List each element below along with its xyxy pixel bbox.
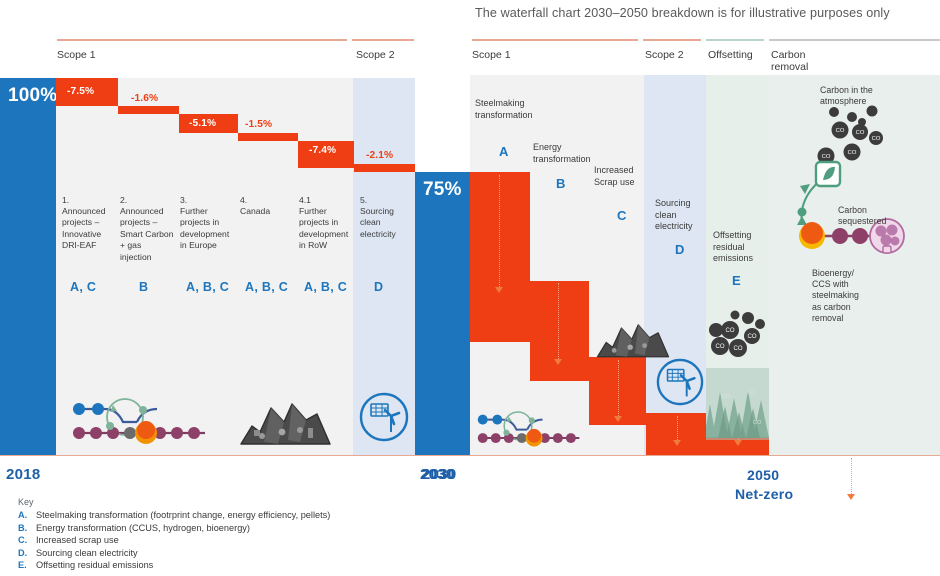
step-value-4: -1.5% bbox=[245, 119, 272, 130]
carbon-sequestered-label: Carbon sequestered bbox=[838, 205, 898, 227]
right-dri-eaf-illustration bbox=[472, 408, 587, 452]
drop-arrow-line-2 bbox=[558, 283, 559, 359]
offsetting-co2-molecules: COCO COCO bbox=[708, 310, 770, 370]
scrap-pile-illustration bbox=[238, 398, 333, 448]
right-scope2-rule bbox=[643, 39, 701, 41]
svg-text:CO: CO bbox=[872, 136, 881, 142]
left-scope2-label: Scope 2 bbox=[356, 50, 416, 62]
label-2018-total: 100% bbox=[8, 85, 57, 107]
step-value-1: -7.5% bbox=[67, 86, 94, 97]
drop-arrow-head-1 bbox=[495, 287, 503, 293]
year-label-2050-netzero: Net-zero bbox=[735, 486, 793, 502]
column-note-6-number: 5. bbox=[360, 195, 410, 206]
right-annotation-code-A: A bbox=[499, 144, 508, 159]
column-code-2: B bbox=[139, 280, 148, 294]
column-code-3: A, B, C bbox=[186, 280, 229, 294]
renewable-energy-icon bbox=[359, 392, 409, 442]
key-item-a: A. Steelmaking transformation (footrprin… bbox=[18, 509, 438, 522]
svg-text:CO: CO bbox=[856, 130, 865, 136]
right-scope1-rule bbox=[472, 39, 638, 41]
left-scope1-label: Scope 1 bbox=[57, 50, 137, 62]
right-offsetting-rule bbox=[706, 39, 764, 41]
column-note-5: Further projects in development in RoW bbox=[299, 206, 355, 252]
column-note-6: Sourcing clean electricity bbox=[360, 206, 410, 240]
svg-text:CO: CO bbox=[748, 334, 757, 340]
right-step-bar-steelmaking bbox=[470, 172, 530, 342]
key-title: Key bbox=[18, 497, 438, 507]
key-text-b: Energy transformation (CCUS, hydrogen, b… bbox=[36, 522, 250, 535]
drop-arrow-line-netzero bbox=[851, 458, 852, 494]
svg-text:CO: CO bbox=[734, 346, 743, 352]
drop-arrow-line-4 bbox=[677, 416, 678, 440]
right-scope1-label: Scope 1 bbox=[472, 50, 552, 62]
column-code-6: D bbox=[374, 280, 383, 294]
step-value-5: -7.4% bbox=[309, 145, 336, 156]
infographic-root: The waterfall chart 2030–2050 breakdown … bbox=[0, 0, 940, 576]
drop-arrow-head-4 bbox=[673, 440, 681, 446]
step-value-3: -5.1% bbox=[189, 118, 216, 129]
svg-text:CO: CO bbox=[722, 394, 731, 400]
column-note-1: Announced projects – Innovative DRI-EAF bbox=[62, 206, 114, 252]
step-bar-2 bbox=[118, 106, 179, 114]
drop-arrow-line-3 bbox=[618, 360, 619, 416]
step-bar-4 bbox=[238, 133, 298, 141]
drop-arrow-head-netzero bbox=[847, 494, 855, 500]
key-letter-d: D. bbox=[18, 547, 36, 560]
step-bar-6 bbox=[354, 164, 415, 172]
right-offsetting-label: Offsetting bbox=[708, 50, 768, 62]
svg-text:CO: CO bbox=[822, 154, 831, 160]
bar-2018-total bbox=[0, 78, 56, 455]
right-annotation-note-B: Energy transformation bbox=[533, 142, 601, 165]
left-baseline bbox=[0, 455, 470, 456]
column-code-5: A, B, C bbox=[304, 280, 347, 294]
key-item-c: C. Increased scrap use bbox=[18, 534, 438, 547]
svg-text:CO: CO bbox=[753, 420, 762, 426]
right-scrap-pile-illustration bbox=[594, 320, 672, 360]
drop-arrow-head-3 bbox=[614, 416, 622, 422]
key-text-e: Offsetting residual emissions bbox=[36, 559, 153, 572]
key-letter-c: C. bbox=[18, 534, 36, 547]
column-note-5-number: 4.1 bbox=[299, 195, 349, 206]
column-code-4: A, B, C bbox=[245, 280, 288, 294]
right-annotation-code-E: E bbox=[732, 273, 741, 288]
svg-text:CO: CO bbox=[726, 328, 735, 334]
right-annotation-note-D: Sourcing clean electricity bbox=[655, 198, 703, 233]
right-annotation-code-C: C bbox=[617, 208, 626, 223]
headline-text: The waterfall chart 2030–2050 breakdown … bbox=[475, 0, 940, 26]
right-annotation-note-E: Offsetting residual emissions bbox=[713, 230, 761, 265]
column-note-1-number: 1. bbox=[62, 195, 112, 206]
column-note-2: Announced projects – Smart Carbon + gas … bbox=[120, 206, 174, 263]
key-letter-e: E. bbox=[18, 559, 36, 572]
left-scope1-rule bbox=[57, 39, 347, 41]
svg-text:CO: CO bbox=[716, 344, 725, 350]
key-item-d: D. Sourcing clean electricity bbox=[18, 547, 438, 560]
svg-text:CO: CO bbox=[747, 390, 756, 396]
key-letter-a: A. bbox=[18, 509, 36, 522]
key-text-c: Increased scrap use bbox=[36, 534, 119, 547]
column-note-3: Further projects in development in Europ… bbox=[180, 206, 238, 252]
year-label-2050: 2050 bbox=[747, 467, 779, 483]
year-label-2018: 2018 bbox=[6, 466, 41, 483]
right-carbonremoval-label: Carbon removal bbox=[771, 50, 813, 73]
column-note-4-number: 4. bbox=[240, 195, 290, 206]
svg-text:CO: CO bbox=[836, 128, 845, 134]
drop-arrow-line-1 bbox=[499, 175, 500, 287]
right-renewable-energy-icon bbox=[656, 358, 704, 406]
key-item-e: E. Offsetting residual emissions bbox=[18, 559, 438, 572]
bioenergy-ccs-label: Bioenergy/ CCS with steelmaking as carbo… bbox=[812, 268, 864, 324]
dri-eaf-illustration bbox=[65, 395, 215, 450]
key-letter-b: B. bbox=[18, 522, 36, 535]
key-text-a: Steelmaking transformation (footrprint c… bbox=[36, 509, 330, 522]
carbon-removal-diagram: COCO COCO CO bbox=[790, 100, 910, 270]
offsetting-forest-illustration: COCOCO bbox=[706, 368, 769, 440]
key-legend: Key A. Steelmaking transformation (footr… bbox=[18, 497, 438, 572]
right-annotation-note-A: Steelmaking transformation bbox=[475, 98, 541, 121]
right-annotation-note-C: Increased Scrap use bbox=[594, 165, 652, 188]
right-baseline bbox=[470, 455, 940, 456]
right-step-bar-energy bbox=[530, 281, 589, 381]
key-text-d: Sourcing clean electricity bbox=[36, 547, 138, 560]
drop-arrow-head-2 bbox=[554, 359, 562, 365]
column-note-2-number: 2. bbox=[120, 195, 170, 206]
step-value-6: -2.1% bbox=[366, 150, 393, 161]
right-annotation-code-D: D bbox=[675, 242, 684, 257]
drop-arrow-head-5 bbox=[734, 440, 742, 446]
label-2030-total: 75% bbox=[423, 179, 462, 201]
right-carbonremoval-rule bbox=[769, 39, 940, 41]
year-label-2030-right: 2030 bbox=[422, 466, 457, 483]
svg-text:CO: CO bbox=[848, 150, 857, 156]
right-step-bar-electricity bbox=[646, 413, 706, 455]
key-item-b: B. Energy transformation (CCUS, hydrogen… bbox=[18, 522, 438, 535]
bar-2030-total bbox=[415, 172, 470, 455]
step-value-2: -1.6% bbox=[131, 93, 158, 104]
right-scope2-label: Scope 2 bbox=[645, 50, 705, 62]
left-scope2-rule bbox=[352, 39, 414, 41]
right-annotation-code-B: B bbox=[556, 176, 565, 191]
column-code-1: A, C bbox=[70, 280, 96, 294]
column-note-3-number: 3. bbox=[180, 195, 230, 206]
column-note-4: Canada bbox=[240, 206, 294, 217]
